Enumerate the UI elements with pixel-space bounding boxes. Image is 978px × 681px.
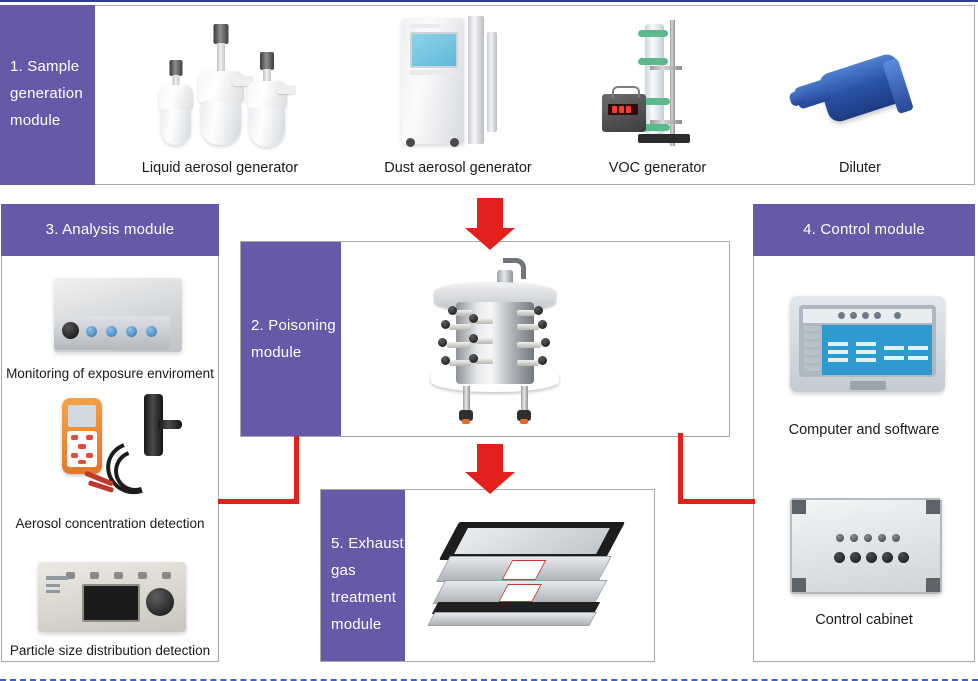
sample-generation-label: 1. Sample generation module <box>0 5 95 185</box>
diluter-caption: Diluter <box>790 160 930 177</box>
exhaust-module-label-line-3: treatment <box>331 584 405 611</box>
liquid-aerosol-generator-photo <box>140 22 300 147</box>
exhaust-module-label: 5. Exhaust gas treatment module <box>321 490 405 661</box>
connector-poisoning-to-control-vertical <box>678 433 683 504</box>
exposure-chamber-photo <box>425 252 565 430</box>
particle-size-analyzer-photo <box>32 542 192 638</box>
dust-aerosol-generator-photo <box>392 14 522 148</box>
system-diagram: 1. Sample generation module Liquid <box>0 0 978 681</box>
liquid-aerosol-generator-caption: Liquid aerosol generator <box>120 160 320 177</box>
voc-generator-caption: VOC generator <box>580 160 735 177</box>
analysis-module-label-text: 3. Analysis module <box>46 221 175 238</box>
handheld-aerosol-meter-caption: Aerosol concentration detection <box>3 515 217 532</box>
connector-poisoning-to-analysis-horizontal <box>218 499 299 504</box>
poisoning-module-label: 2. Poisoning module <box>241 242 341 436</box>
connector-poisoning-to-analysis-vertical <box>294 436 299 504</box>
analysis-module-label: 3. Analysis module <box>1 204 219 256</box>
dust-aerosol-generator-caption: Dust aerosol generator <box>360 160 556 177</box>
hepa-filter-stack-photo <box>425 522 625 642</box>
connector-poisoning-to-control-horizontal <box>678 499 755 504</box>
control-cabinet-caption: Control cabinet <box>755 612 973 629</box>
control-cabinet-photo <box>790 498 950 602</box>
monitoring-unit-photo <box>42 274 188 362</box>
control-module-label-text: 4. Control module <box>803 221 925 238</box>
exhaust-module-label-line-4: module <box>331 611 405 638</box>
voc-generator-photo <box>600 16 720 146</box>
exhaust-module-label-line-1: 5. Exhaust <box>331 530 405 557</box>
particle-size-analyzer-caption: Particle size distribution detection <box>3 642 217 659</box>
poisoning-module-label-line-2: module <box>251 339 341 366</box>
sample-generation-label-line-1: 1. Sample <box>10 53 95 80</box>
exhaust-module-label-line-2: gas <box>331 557 405 584</box>
computer-and-software-caption: Computer and software <box>755 422 973 439</box>
diluter-photo <box>790 47 930 137</box>
computer-and-software-photo <box>790 290 945 402</box>
sample-generation-label-line-2: generation <box>10 80 95 107</box>
arrow-sample-to-poisoning <box>460 198 520 250</box>
poisoning-module-label-line-1: 2. Poisoning <box>251 312 341 339</box>
handheld-aerosol-meter-photo <box>48 394 188 504</box>
monitoring-unit-caption: Monitoring of exposure enviroment <box>3 365 217 382</box>
control-module-label: 4. Control module <box>753 204 975 256</box>
sample-generation-label-line-3: module <box>10 107 95 134</box>
arrow-poisoning-to-exhaust <box>460 444 520 494</box>
